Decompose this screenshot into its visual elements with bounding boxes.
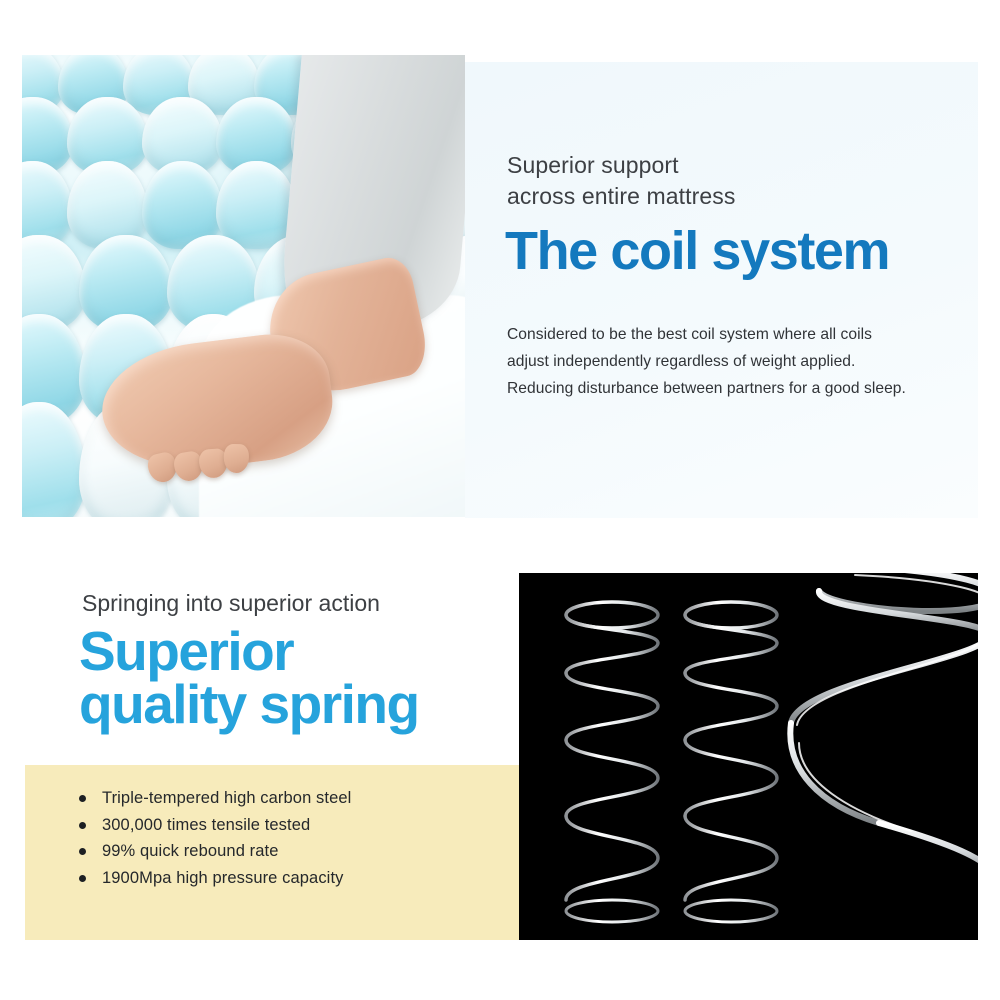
spring-heading-line-2: quality spring [79, 678, 509, 731]
list-item: Triple-tempered high carbon steel [75, 785, 351, 812]
coil-field [22, 55, 465, 517]
pocket-coil-photo [22, 55, 465, 517]
spring-heading-line-1: Superior [79, 625, 509, 678]
coil-system-heading: The coil system [505, 222, 955, 280]
list-item: 99% quick rebound rate [75, 838, 351, 865]
coil-system-eyebrow: Superior support across entire mattress [507, 150, 937, 212]
spring-specs-panel: Triple-tempered high carbon steel 300,00… [25, 765, 520, 940]
spring-illustration [519, 573, 978, 940]
list-item: 300,000 times tensile tested [75, 812, 351, 839]
list-item: 1900Mpa high pressure capacity [75, 865, 351, 892]
product-feature-page: Superior support across entire mattress … [0, 0, 1000, 1000]
spring-eyebrow: Springing into superior action [82, 588, 512, 618]
spring-specs-list: Triple-tempered high carbon steel 300,00… [75, 785, 351, 891]
eyebrow-line-1: Superior support [507, 152, 679, 178]
coil-system-body: Considered to be the best coil system wh… [507, 321, 907, 402]
coil-spring-photo [519, 573, 978, 940]
coil-system-panel: Superior support across entire mattress … [465, 62, 978, 518]
spring-heading: Superior quality spring [79, 625, 509, 731]
eyebrow-line-2: across entire mattress [507, 183, 735, 209]
